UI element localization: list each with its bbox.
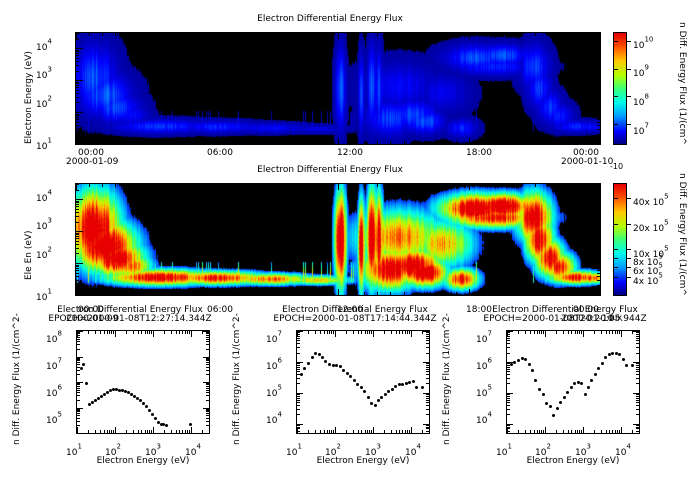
data-point	[307, 362, 310, 365]
data-point	[513, 361, 516, 364]
data-point	[538, 388, 541, 391]
plot3-ytick-1: 105	[476, 381, 492, 400]
data-point	[601, 362, 604, 365]
panel1-xtick-1: 06:00	[207, 148, 233, 158]
plot3-ytick-3: 107	[476, 327, 492, 346]
data-point	[625, 364, 628, 367]
data-point	[321, 356, 324, 359]
data-point	[604, 356, 607, 359]
data-point	[339, 365, 342, 368]
panel1-cb-tick-0: 1010	[633, 33, 653, 52]
data-point	[618, 353, 621, 356]
data-point	[85, 382, 88, 385]
plot3-ytick-0: 104	[476, 408, 492, 427]
plot3-plot-area[interactable]	[506, 330, 640, 434]
data-point	[587, 386, 590, 389]
panel2-cb-tick-0: 40x 105	[633, 190, 669, 209]
data-point	[145, 405, 148, 408]
data-point	[421, 386, 424, 389]
data-point	[151, 413, 154, 416]
data-point	[311, 356, 314, 359]
data-point	[524, 358, 527, 361]
plot2-ylabel-wrap: n Diff. Energy Flux (1/(cm^2-	[232, 325, 242, 445]
data-point	[412, 380, 415, 383]
plot2-xlabel: Electron Energy (eV)	[296, 456, 430, 466]
data-point	[597, 367, 600, 370]
data-point	[622, 358, 625, 361]
panel1-xtick-2: 12:00	[337, 148, 363, 158]
plot2-ylabel: n Diff. Energy Flux (1/(cm^2-	[232, 325, 242, 445]
plot2-plot-area[interactable]	[296, 330, 430, 434]
data-point	[349, 375, 352, 378]
panel2-colorbar[interactable]	[613, 183, 627, 296]
data-point	[318, 353, 321, 356]
data-point	[346, 372, 349, 375]
data-point	[148, 409, 151, 412]
data-point	[387, 390, 390, 393]
panel2-colorbar-label: n Diff. Energy Flux (1/(cm^	[677, 173, 687, 313]
data-point	[157, 421, 160, 424]
plot2-ytick-1: 105	[266, 381, 282, 400]
data-point	[374, 404, 377, 407]
plot2-ytick-3: 107	[266, 327, 282, 346]
data-point	[391, 388, 394, 391]
panel1-ylabel-wrap: Electron Energy (eV)	[24, 34, 34, 144]
panel2-plot-area[interactable]	[75, 183, 601, 296]
data-point	[394, 385, 397, 388]
data-point	[549, 405, 552, 408]
plot1-subtitle: EPOCH=2000-01-08T12:27:14.344Z	[20, 314, 240, 324]
panel1-colorbar-label: n Diff. Energy Flux (1/(cm^	[677, 22, 687, 162]
data-point	[80, 367, 83, 370]
panel1-title: Electron Differential Energy Flux	[0, 14, 660, 24]
plot1-ylabel-wrap: n Diff. Energy Flux (1/(cm^2-	[12, 325, 22, 445]
panel1-ytick-0: 104	[36, 35, 52, 54]
data-point	[380, 396, 383, 399]
panel2-ylabel: Ele En (eV)	[24, 200, 34, 280]
plot2-subtitle: EPOCH=2000-01-08T17:14:44.344Z	[245, 314, 465, 324]
data-point	[510, 363, 513, 366]
plot3-subtitle: EPOCH=2000-01-08T20:20:05.944Z	[455, 314, 675, 324]
panel1-ytick-1: 103	[36, 63, 52, 82]
data-point	[534, 379, 537, 382]
plot3-ytick-2: 106	[476, 354, 492, 373]
plot1-xlabel: Electron Energy (eV)	[76, 456, 210, 466]
data-point	[415, 386, 418, 389]
data-point	[377, 399, 380, 402]
data-point	[189, 423, 192, 426]
data-point	[324, 360, 327, 363]
data-point	[517, 359, 520, 362]
data-point	[552, 414, 555, 417]
data-point	[521, 357, 524, 360]
data-point	[82, 363, 85, 366]
panel1-cb-tick-1: 109	[633, 61, 649, 80]
data-point	[584, 393, 587, 396]
data-point	[342, 369, 345, 372]
panel1-plot-area[interactable]	[75, 32, 601, 145]
data-point	[545, 402, 548, 405]
plot3-ylabel-wrap: n Diff. Energy Flux (1/(cm^2-	[442, 325, 452, 445]
plot1-plot-area[interactable]	[76, 330, 210, 434]
plot3-xlabel: Electron Energy (eV)	[506, 456, 640, 466]
data-point	[360, 386, 363, 389]
panel1-ytick-3: 101	[36, 134, 52, 153]
data-point	[314, 352, 317, 355]
data-point	[594, 373, 597, 376]
panel1-ylabel: Electron Energy (eV)	[24, 34, 34, 144]
data-point	[528, 363, 531, 366]
panel2-ytick-3: 101	[36, 285, 52, 304]
plot1-ytick-2: 107	[46, 354, 62, 373]
data-point	[631, 364, 634, 367]
panel1-xtick-3: 18:00	[466, 148, 492, 158]
panel2-ytick-2: 102	[36, 243, 52, 262]
panel2-cb-tick-5: 4x 105	[633, 269, 663, 288]
plot1-ylabel: n Diff. Energy Flux (1/(cm^2-	[12, 325, 22, 445]
plot1-ytick-1: 106	[46, 381, 62, 400]
data-point	[353, 379, 356, 382]
panel2-cb-tick-1: 20x 105	[633, 216, 669, 235]
data-point	[303, 367, 306, 370]
data-point	[328, 363, 331, 366]
data-point	[566, 391, 569, 394]
panel1-cb-tick-3: 107	[633, 119, 649, 138]
plot2-ytick-0: 104	[266, 408, 282, 427]
panel2-ytick-0: 104	[36, 186, 52, 205]
data-point	[570, 386, 573, 389]
data-point	[154, 417, 157, 420]
data-point	[356, 383, 359, 386]
plot1-ytick-3: 108	[46, 327, 62, 346]
data-point	[165, 424, 168, 427]
data-point	[139, 399, 142, 402]
data-point	[573, 382, 576, 385]
data-point	[142, 402, 145, 405]
data-point	[559, 401, 562, 404]
data-point	[556, 407, 559, 410]
data-point	[384, 393, 387, 396]
plot1-ytick-0: 105	[46, 408, 62, 427]
plot3-ylabel: n Diff. Energy Flux (1/(cm^2-	[442, 325, 452, 445]
plot2-ytick-2: 106	[266, 354, 282, 373]
data-point	[300, 373, 303, 376]
data-point	[367, 396, 370, 399]
panel1-cb-tick-2: 108	[633, 90, 649, 109]
data-point	[563, 396, 566, 399]
panel1-colorbar[interactable]	[613, 32, 627, 145]
panel2-ytick-1: 103	[36, 214, 52, 233]
panel2-title: Electron Differential Energy Flux	[0, 165, 660, 175]
data-point	[335, 364, 338, 367]
data-point	[370, 402, 373, 405]
panel1-ytick-2: 102	[36, 92, 52, 111]
data-point	[542, 393, 545, 396]
data-point	[590, 379, 593, 382]
data-point	[363, 390, 366, 393]
panel2-ylabel-wrap: Ele En (eV)	[24, 200, 34, 280]
data-point	[531, 369, 534, 372]
data-point	[580, 382, 583, 385]
